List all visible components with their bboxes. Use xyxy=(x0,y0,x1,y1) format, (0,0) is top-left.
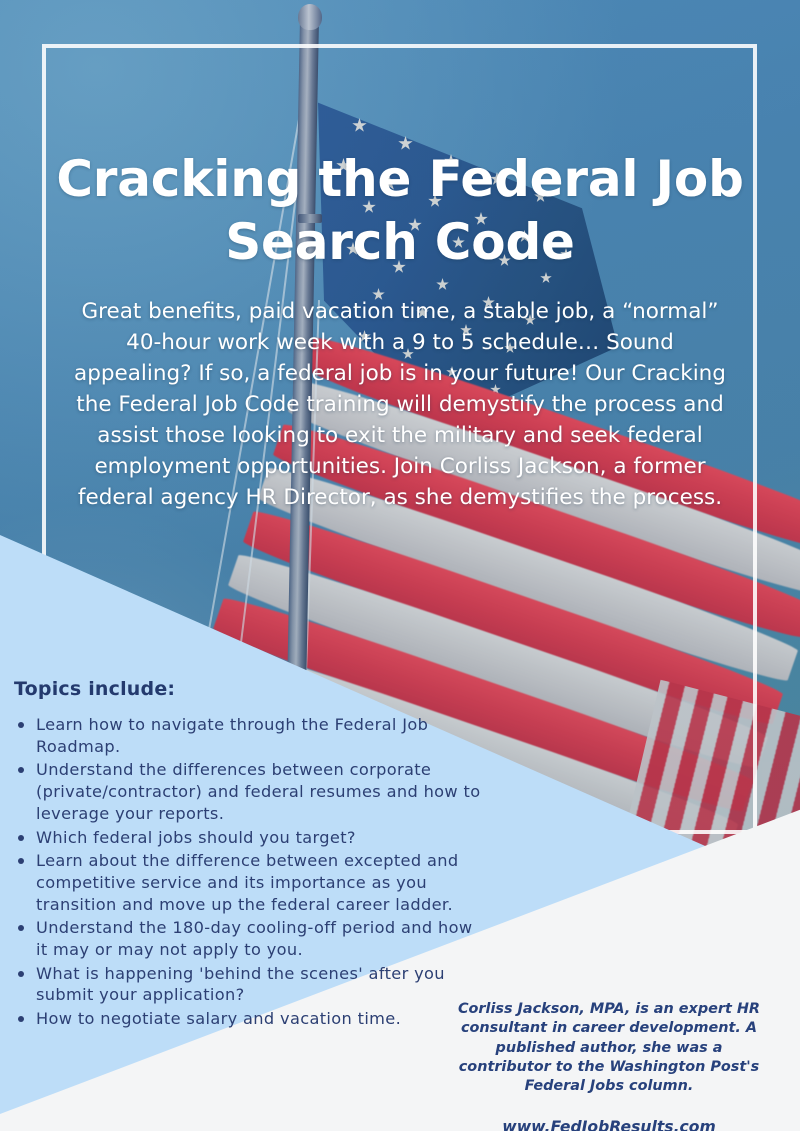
topic-list-item: Learn about the difference between excep… xyxy=(14,850,484,915)
topic-label: Understand the differences between corpo… xyxy=(36,760,480,822)
website-url[interactable]: www.FedJobResults.com xyxy=(454,1118,764,1131)
bullet-icon xyxy=(18,1016,24,1022)
topic-label: Learn about the difference between excep… xyxy=(36,851,458,913)
topic-label: Learn how to navigate through the Federa… xyxy=(36,715,428,756)
bullet-icon xyxy=(18,971,24,977)
topics-heading: Topics include: xyxy=(14,678,484,700)
topics-section: Topics include: Learn how to navigate th… xyxy=(14,678,484,1032)
topic-list-item: Understand the differences between corpo… xyxy=(14,759,484,824)
bullet-icon xyxy=(18,835,24,841)
bullet-icon xyxy=(18,858,24,864)
bullet-icon xyxy=(18,722,24,728)
bio-section: Corliss Jackson, MPA, is an expert HR co… xyxy=(454,1000,764,1131)
hero-description: Great benefits, paid vacation time, a st… xyxy=(70,296,730,513)
topic-list-item: Understand the 180-day cooling-off perio… xyxy=(14,917,484,960)
bullet-icon xyxy=(18,767,24,773)
topic-label: Which federal jobs should you target? xyxy=(36,828,356,847)
bullet-icon xyxy=(18,925,24,931)
bio-text: Corliss Jackson, MPA, is an expert HR co… xyxy=(454,1000,764,1096)
topic-list-item: Which federal jobs should you target? xyxy=(14,827,484,849)
topic-label: How to negotiate salary and vacation tim… xyxy=(36,1009,401,1028)
topic-list-item: How to negotiate salary and vacation tim… xyxy=(14,1008,484,1030)
topic-list-item: Learn how to navigate through the Federa… xyxy=(14,714,484,757)
topic-label: What is happening 'behind the scenes' af… xyxy=(36,964,445,1005)
poster-canvas: Cracking the Federal Job Search Code Gre… xyxy=(0,0,800,1131)
topic-label: Understand the 180-day cooling-off perio… xyxy=(36,918,472,959)
topic-list-item: What is happening 'behind the scenes' af… xyxy=(14,963,484,1006)
topics-list: Learn how to navigate through the Federa… xyxy=(14,714,484,1030)
page-title: Cracking the Federal Job Search Code xyxy=(56,148,744,274)
hero-section: Cracking the Federal Job Search Code Gre… xyxy=(56,148,744,513)
